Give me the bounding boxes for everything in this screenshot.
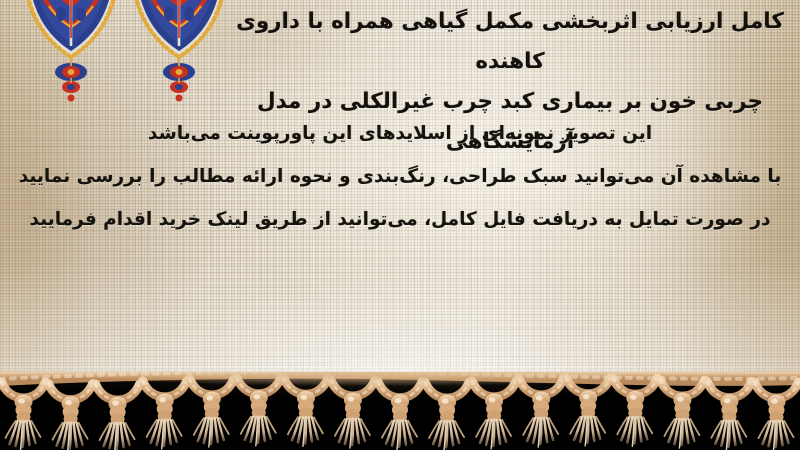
- slide-body: این تصویر نمونه‌ای از اسلایدهای این پاور…: [8, 112, 792, 241]
- slide-body-line-2: با مشاهده آن می‌توانید سبک طراحی، رنگ‌بن…: [8, 155, 792, 198]
- fringe-tassel: [660, 380, 704, 448]
- persian-medallion-ornament-left: [18, 0, 124, 104]
- fringe-tassel: [2, 382, 46, 450]
- fringe-tassel: [472, 381, 516, 449]
- slide-body-line-1: این تصویر نمونه‌ای از اسلایدهای این پاور…: [8, 112, 792, 155]
- fringe-tassel: [49, 384, 93, 450]
- fringe-tassel: [425, 382, 469, 450]
- fringe-tassel: [707, 382, 751, 450]
- fringe-tassel: [331, 380, 375, 448]
- ornament-group: [0, 0, 250, 104]
- fringe-tassel: [755, 382, 799, 450]
- fringe-tassel: [96, 384, 140, 450]
- carpet-fringe-band: [0, 372, 800, 450]
- carpet-selvedge-edge: [0, 372, 800, 390]
- fringe-tassel: [378, 382, 422, 450]
- persian-medallion-ornament-right: [126, 0, 232, 104]
- slide-title-line-1: کامل ارزیابی اثربخشی مکمل گیاهی همراه با…: [232, 2, 788, 82]
- slide-canvas: کامل ارزیابی اثربخشی مکمل گیاهی همراه با…: [0, 0, 800, 450]
- fringe-tassel: [143, 381, 187, 449]
- slide-body-line-3: در صورت تمایل به دریافت فایل کامل، می‌تو…: [8, 198, 792, 241]
